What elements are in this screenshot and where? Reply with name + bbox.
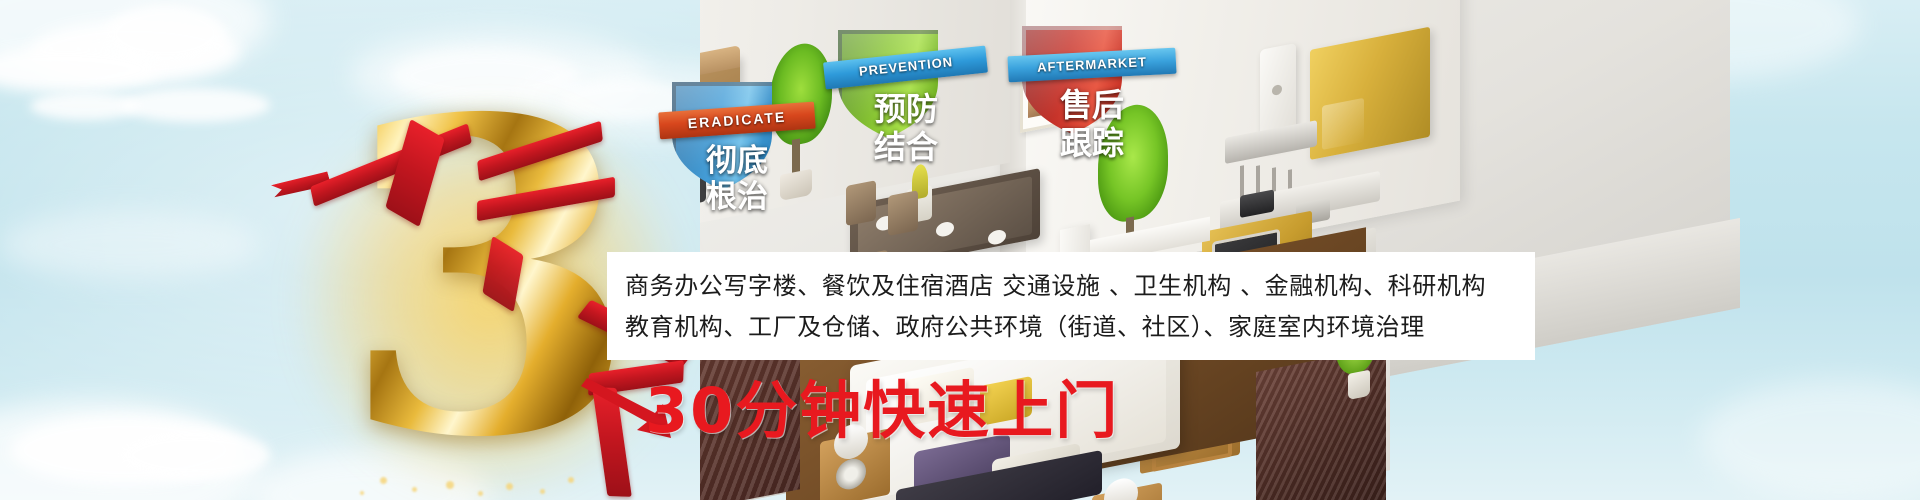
service-scope-panel: 商务办公写字楼、餐饮及住宿酒店 交通设施 、卫生机构 、金融机构、科研机构 教育… (607, 252, 1535, 360)
cloud-shape (30, 92, 140, 120)
shield-eradicate: ERADICATE 彻底 根治 (672, 82, 802, 242)
shield-prevention: PREVENTION 预防 结合 (838, 30, 974, 196)
service-scope-line-2: 教育机构、工厂及仓储、政府公共环境（街道、社区）、家庭室内环境治理 (625, 315, 1535, 339)
cloud-shape (30, 20, 240, 82)
shield-chinese-line1: 预防 (838, 92, 974, 127)
cloud-shape (105, 5, 225, 63)
cloud-shape (10, 415, 240, 485)
service-scope-line-1: 商务办公写字楼、餐饮及住宿酒店 交通设施 、卫生机构 、金融机构、科研机构 (625, 274, 1535, 298)
shield-chinese-line2: 结合 (838, 130, 974, 165)
cloud-shape (0, 400, 260, 500)
headline-text: 30分钟快速上门 (645, 360, 1119, 450)
shield-chinese-line2: 根治 (672, 180, 802, 213)
cloud-shape (0, 0, 270, 80)
cloud-shape (120, 88, 270, 122)
shield-chinese-line1: 彻底 (672, 144, 802, 177)
cloud-shape (0, 210, 260, 280)
shield-aftermarket: AFTERMARKET 售后 跟踪 (1022, 26, 1162, 196)
shield-chinese-line1: 售后 (1022, 88, 1162, 123)
cloud-shape (0, 46, 160, 92)
cloud-shape (120, 430, 270, 480)
promo-banner: 3 ERADICATE 彻底 根治 PREVENTIO (0, 0, 1920, 500)
shield-chinese-line2: 跟踪 (1022, 126, 1162, 161)
